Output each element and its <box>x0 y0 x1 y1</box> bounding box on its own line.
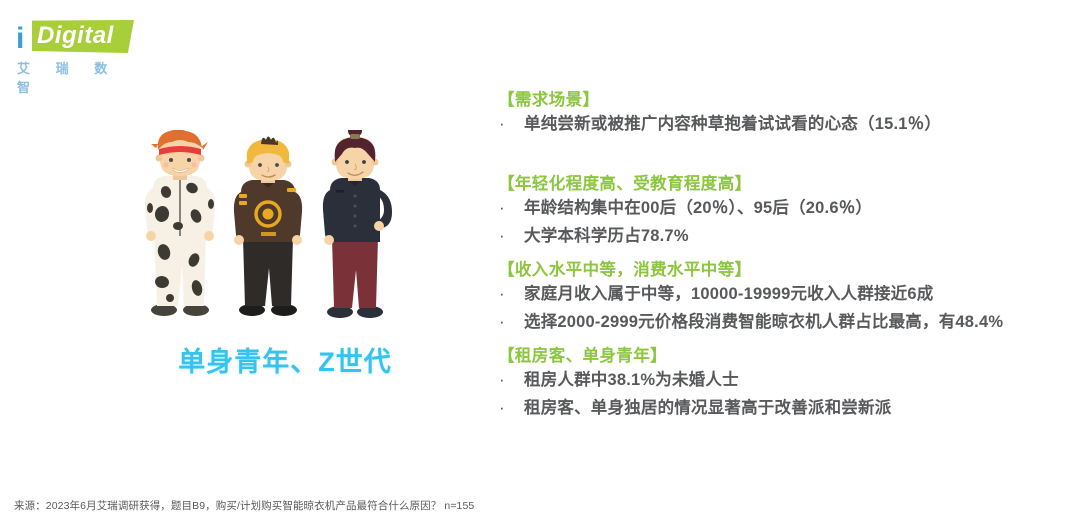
bullet-marker-icon: · <box>498 194 524 222</box>
section-spacer <box>498 250 1070 260</box>
bullet-marker-icon: · <box>498 222 524 250</box>
section-young-educated: 【年轻化程度高、受教育程度高】 · 年龄结构集中在00后（20％）、95后（20… <box>498 174 1070 250</box>
list-item-text: 选择2000-2999元价格段消费智能晾衣机人群占比最高，有48.4% <box>524 308 1003 336</box>
section-spacer <box>498 138 1070 174</box>
character-beanie <box>234 137 302 317</box>
section-income-consumption: 【收入水平中等，消费水平中等】 · 家庭月收入属于中等，10000-19999元… <box>498 260 1070 336</box>
section-renters-singles: 【租房客、单身青年】 · 租房人群中38.1%为未婚人士 · 租房客、单身独居的… <box>498 346 1070 422</box>
section-heading: 【收入水平中等，消费水平中等】 <box>498 260 1070 280</box>
logo-wordmark-row: i Digital <box>12 18 142 54</box>
list-item: · 租房客、单身独居的情况显著高于改善派和尝新派 <box>498 394 1070 422</box>
bullet-marker-icon: · <box>498 280 524 308</box>
list-item: · 年龄结构集中在00后（20％）、95后（20.6％） <box>498 194 1070 222</box>
list-item: · 单纯尝新或被推广内容种草抱着试试看的心态（15.1％） <box>498 110 1070 138</box>
list-item-text: 家庭月收入属于中等，10000-19999元收入人群接近6成 <box>524 280 933 308</box>
bullet-marker-icon: · <box>498 394 524 422</box>
illustration-caption: 单身青年、Z世代 <box>140 340 430 379</box>
list-item: · 选择2000-2999元价格段消费智能晾衣机人群占比最高，有48.4% <box>498 308 1070 336</box>
slide-canvas: i Digital 艾 瑞 数 智 <box>0 0 1080 525</box>
list-item-text: 年龄结构集中在00后（20％）、95后（20.6％） <box>524 194 872 222</box>
bullet-marker-icon: · <box>498 366 524 394</box>
logo-subtitle: 艾 瑞 数 智 <box>17 58 142 96</box>
section-heading: 【租房客、单身青年】 <box>498 346 1070 366</box>
three-young-men-illustration <box>140 130 430 320</box>
section-heading: 【年轻化程度高、受教育程度高】 <box>498 174 1070 194</box>
list-item-text: 租房客、单身独居的情况显著高于改善派和尝新派 <box>524 394 891 422</box>
bullet-marker-icon: · <box>498 110 524 138</box>
list-item: · 大学本科学历占78.7% <box>498 222 1070 250</box>
list-item: · 租房人群中38.1%为未婚人士 <box>498 366 1070 394</box>
list-item: · 家庭月收入属于中等，10000-19999元收入人群接近6成 <box>498 280 1070 308</box>
idigital-logo: i Digital 艾 瑞 数 智 <box>12 18 142 76</box>
bullet-marker-icon: · <box>498 308 524 336</box>
character-topknot <box>323 130 392 318</box>
section-spacer <box>498 336 1070 346</box>
character-cow-print <box>145 130 215 316</box>
list-item-text: 租房人群中38.1%为未婚人士 <box>524 366 739 394</box>
logo-letter-i: i <box>16 24 23 54</box>
logo-wordmark-text: Digital <box>37 23 114 49</box>
section-demand-scenario: 【需求场景】 · 单纯尝新或被推广内容种草抱着试试看的心态（15.1％） <box>498 90 1070 138</box>
insights-panel: 【需求场景】 · 单纯尝新或被推广内容种草抱着试试看的心态（15.1％） 【年轻… <box>498 90 1070 422</box>
source-note: 来源：2023年6月艾瑞调研获得，题目B9，购买/计划购买智能晾衣机产品最符合什… <box>14 498 474 513</box>
list-item-text: 大学本科学历占78.7% <box>524 222 689 250</box>
list-item-text: 单纯尝新或被推广内容种草抱着试试看的心态（15.1％） <box>524 110 941 138</box>
section-heading: 【需求场景】 <box>498 90 1070 110</box>
